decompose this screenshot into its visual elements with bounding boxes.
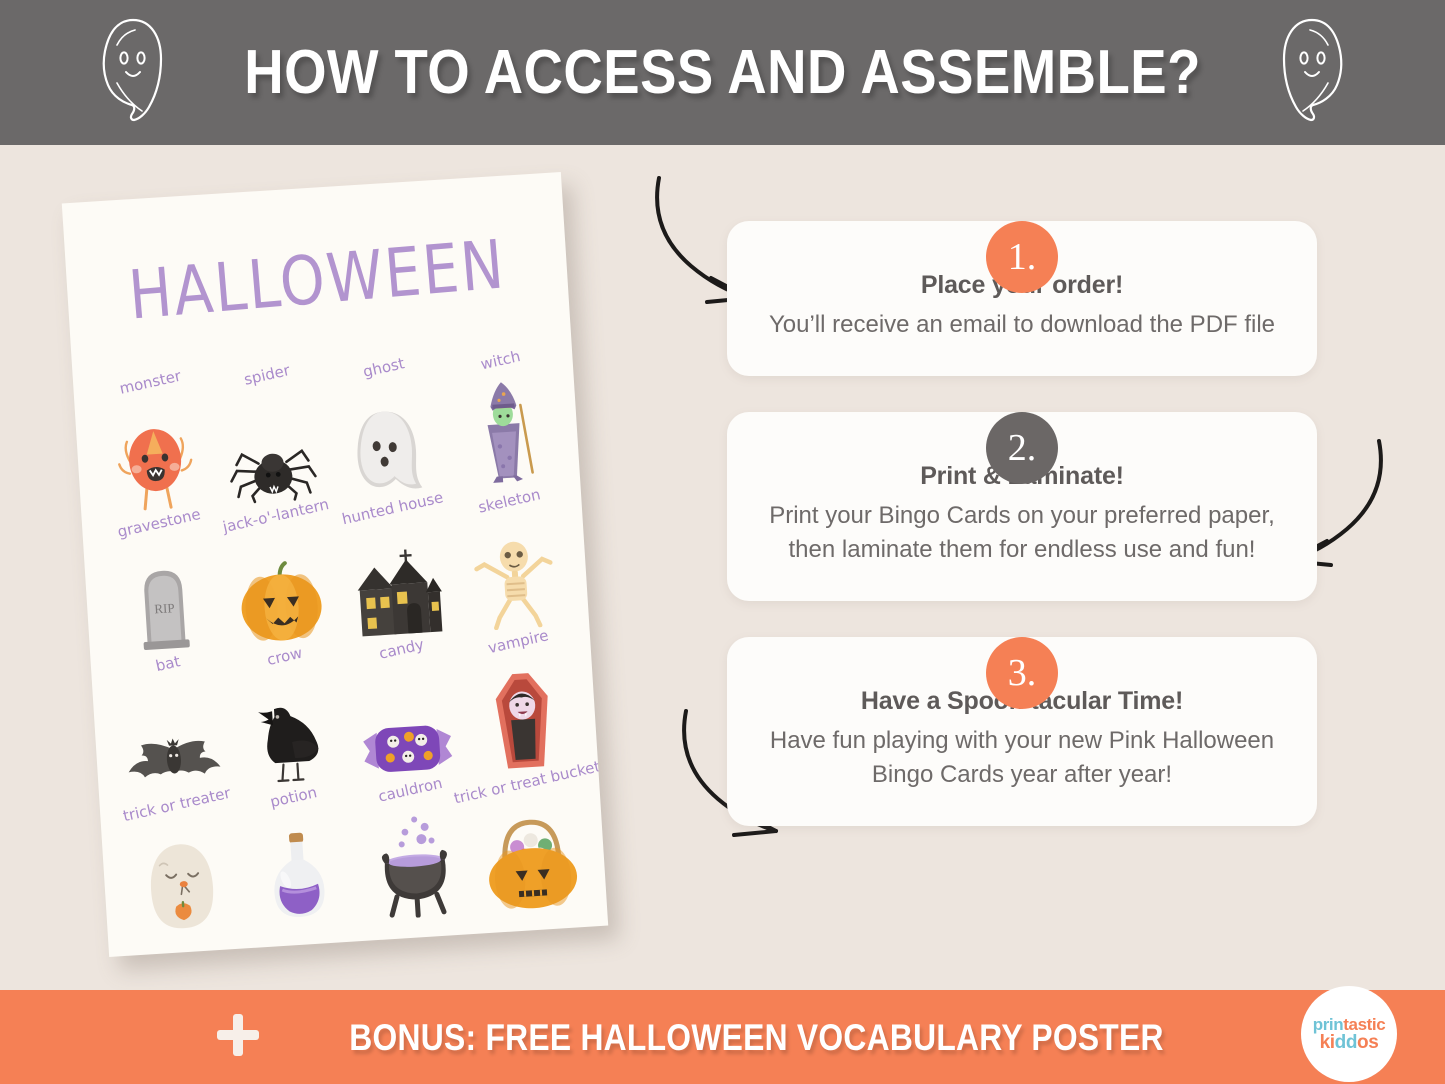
spider-icon — [227, 438, 319, 505]
logo-line-1: printastic — [1313, 1016, 1386, 1033]
poster-item-label: witch — [478, 347, 521, 373]
potion-icon — [262, 827, 334, 927]
poster-item: spider — [208, 362, 334, 510]
step-body: Have fun playing with your new Pink Hall… — [767, 724, 1277, 792]
poster-vocabulary-grid: monster — [91, 348, 593, 940]
steps-list: 1. Place your order! You’ll receive an e… — [727, 185, 1317, 849]
poster-item-label: crow — [265, 644, 304, 669]
ghost-icon — [1276, 15, 1348, 130]
step-number-badge: 3. — [986, 637, 1058, 709]
step-body: You’ll receive an email to download the … — [767, 308, 1277, 342]
poster-item: bat — [108, 651, 234, 799]
poster-item-label: bat — [153, 652, 181, 675]
gravestone-icon: RIP — [130, 559, 198, 653]
logo-text-dd: dd — [1335, 1032, 1357, 1053]
logo-line-2: kiddos — [1320, 1033, 1379, 1052]
bonus-banner-text: BONUS: FREE HALLOWEEN VOCABULARY POSTER — [349, 1019, 1163, 1056]
logo-text-tastic: tastic — [1343, 1015, 1385, 1034]
page-title: HOW TO ACCESS AND ASSEMBLE? — [244, 42, 1201, 104]
ghost-icon — [343, 405, 434, 498]
trick-or-treater-icon — [138, 838, 226, 935]
poster-item: gravestone RIP — [100, 510, 226, 658]
witch-icon — [466, 376, 543, 490]
main-content: HALLOWEEN monster — [0, 145, 1445, 990]
poster-item: potion — [234, 784, 360, 932]
step-number-badge: 1. — [986, 221, 1058, 293]
poster-item: hunted house — [333, 496, 459, 644]
candy-icon — [354, 718, 461, 780]
svg-text:RIP: RIP — [153, 600, 174, 616]
bonus-banner: BONUS: FREE HALLOWEEN VOCABULARY POSTER … — [0, 990, 1445, 1084]
halloween-poster-preview[interactable]: HALLOWEEN monster — [62, 172, 608, 957]
poster-title: HALLOWEEN — [65, 221, 570, 340]
logo-text-ki: ki — [1320, 1032, 1335, 1053]
step-2: 2. Print & Laminate! Print your Bingo Ca… — [727, 412, 1317, 601]
step-number-badge: 2. — [986, 412, 1058, 484]
poster-item-label: spider — [242, 361, 291, 389]
step-1: 1. Place your order! You’ll receive an e… — [727, 221, 1317, 376]
poster-item: crow — [225, 644, 351, 792]
ghost-icon — [97, 15, 169, 130]
poster-item: witch — [441, 348, 567, 496]
poster-item: vampire — [459, 629, 585, 777]
jack-o-lantern-icon — [234, 559, 327, 646]
poster-item: monster — [91, 370, 217, 518]
plus-icon — [215, 1012, 261, 1063]
printastic-kiddos-logo[interactable]: printastic kiddos — [1301, 986, 1397, 1082]
haunted-house-icon — [346, 541, 448, 639]
monster-icon — [113, 416, 197, 513]
poster-item: candy — [342, 636, 468, 784]
poster-item: ghost — [324, 355, 450, 503]
poster-item: trick or treater — [117, 792, 243, 940]
poster-item-label: monster — [117, 367, 182, 398]
poster-item: skeleton — [450, 488, 576, 636]
logo-text-prin: prin — [1313, 1015, 1344, 1034]
bat-icon — [120, 732, 227, 794]
cauldron-icon — [367, 811, 461, 920]
logo-text-os: os — [1357, 1032, 1378, 1053]
step-body: Print your Bingo Cards on your preferred… — [767, 499, 1277, 567]
page-header: HOW TO ACCESS AND ASSEMBLE? — [0, 0, 1445, 145]
poster-sheet: HALLOWEEN monster — [62, 172, 608, 957]
skeleton-icon — [468, 536, 559, 631]
poster-item: trick or treat bucket — [468, 770, 594, 918]
poster-item-label: ghost — [361, 354, 406, 381]
trick-or-treat-bucket-icon — [482, 811, 582, 913]
poster-item: jack-o'-lantern — [216, 503, 342, 651]
vampire-coffin-icon — [488, 670, 558, 772]
crow-icon — [249, 696, 330, 787]
step-3: 3. Have a Spook-tacular Time! Have fun p… — [727, 637, 1317, 826]
